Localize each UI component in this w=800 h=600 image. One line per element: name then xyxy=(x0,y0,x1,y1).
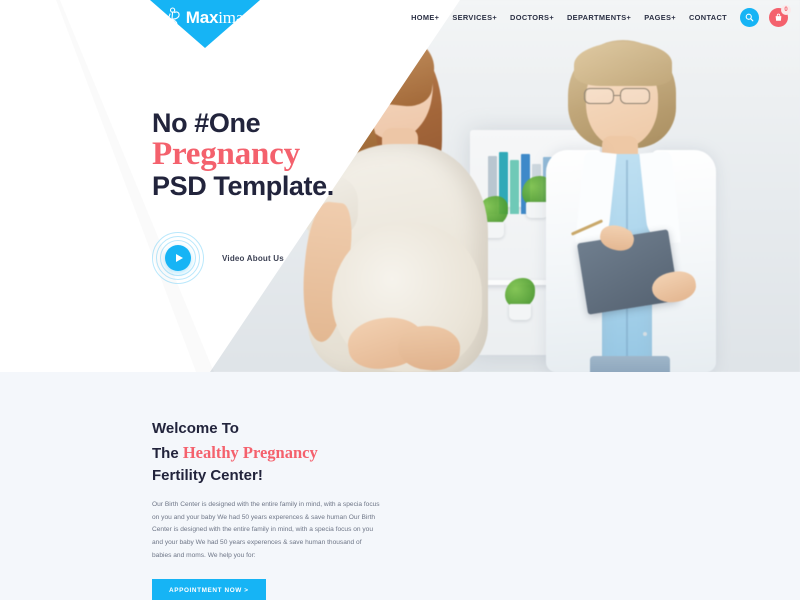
welcome-heading-prefix: The xyxy=(152,445,183,462)
nav-item-home[interactable]: HOME+ xyxy=(411,13,439,22)
play-button[interactable] xyxy=(165,245,191,271)
hero-line-3: PSD Template. xyxy=(152,171,334,201)
welcome-section: Welcome To The Healthy Pregnancy Fertili… xyxy=(0,372,800,600)
photo-doctor-glasses xyxy=(584,88,660,104)
shopping-bag-icon xyxy=(774,13,783,22)
play-button-ripple xyxy=(152,232,204,284)
video-about-us[interactable]: Video About Us xyxy=(152,232,284,284)
nav-item-departments[interactable]: DEPARTMENTS+ xyxy=(567,13,631,22)
welcome-heading-line-3: Fertility Center! xyxy=(152,465,392,488)
welcome-heading-line-1: Welcome To xyxy=(152,418,392,441)
hero-section: Maxima HOME+ SERVICES+ DOCTORS+ DEPARTME… xyxy=(0,0,800,372)
welcome-heading-accent: Healthy Pregnancy xyxy=(183,443,318,462)
hero-headline: No #One Pregnancy PSD Template. xyxy=(152,108,334,201)
welcome-paragraph: Our Birth Center is designed with the en… xyxy=(152,499,380,563)
cart-count-badge: 0 xyxy=(781,5,791,15)
page-root: Maxima HOME+ SERVICES+ DOCTORS+ DEPARTME… xyxy=(0,0,800,600)
appointment-now-button[interactable]: APPOINTMENT NOW > xyxy=(152,579,266,600)
nav-item-services[interactable]: SERVICES+ xyxy=(452,13,497,22)
nav-item-doctors[interactable]: DOCTORS+ xyxy=(510,13,554,22)
welcome-text-block: Welcome To The Healthy Pregnancy Fertili… xyxy=(152,418,392,600)
main-navigation: HOME+ SERVICES+ DOCTORS+ DEPARTMENTS+ PA… xyxy=(0,0,800,34)
cart-button[interactable]: 0 xyxy=(769,8,788,27)
hero-line-1: No #One xyxy=(152,108,334,138)
hero-line-2-accent: Pregnancy xyxy=(152,136,334,173)
photo-doctor xyxy=(540,40,750,372)
search-button[interactable] xyxy=(740,8,759,27)
welcome-heading-line-2: The Healthy Pregnancy xyxy=(152,441,392,466)
play-icon xyxy=(176,254,183,262)
video-label: Video About Us xyxy=(222,254,284,263)
nav-item-pages[interactable]: PAGES+ xyxy=(644,13,676,22)
nav-item-contact[interactable]: CONTACT xyxy=(689,13,727,22)
photo-plant xyxy=(500,264,540,320)
search-icon xyxy=(745,13,754,22)
